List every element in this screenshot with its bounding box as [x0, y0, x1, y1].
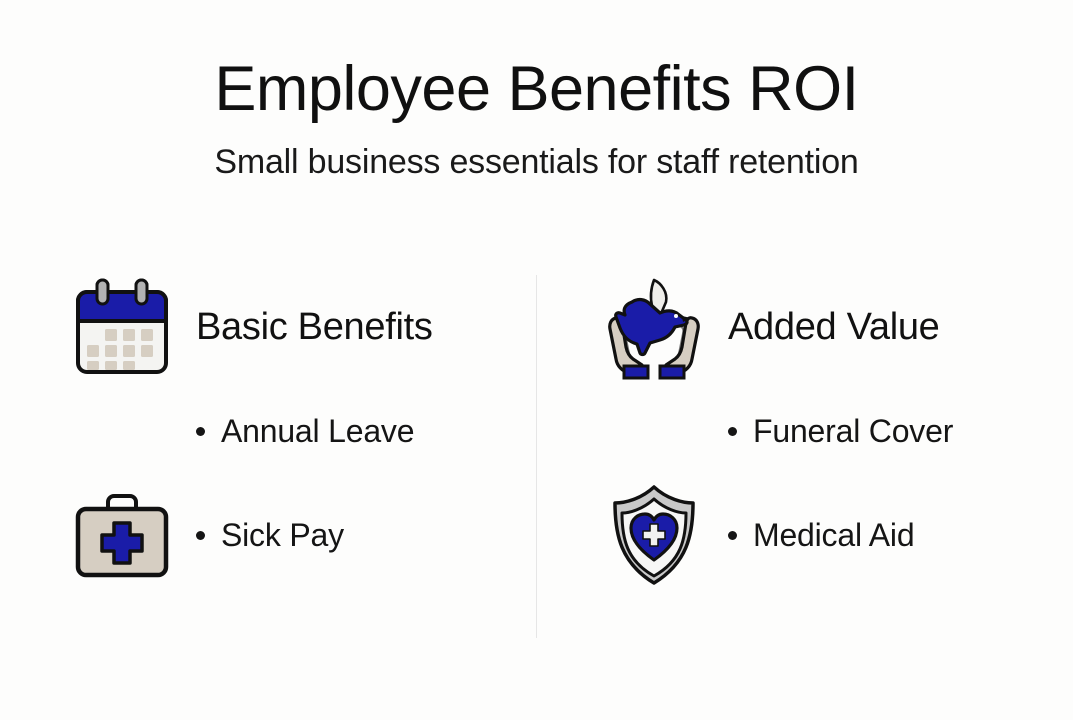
bullet-dot-icon	[196, 531, 205, 540]
dove-in-hands-icon	[594, 272, 714, 382]
page-subtitle: Small business essentials for staff rete…	[0, 144, 1073, 181]
section-title-added-value: Added Value	[728, 306, 940, 349]
section-heading-row-basic: Basic Benefits	[62, 262, 536, 392]
list-item-funeral-cover: Funeral Cover	[594, 392, 1072, 470]
section-title-basic-benefits: Basic Benefits	[196, 306, 433, 349]
column-added-value: Added Value Funeral Cover	[536, 262, 1072, 600]
bullet-dot-icon	[196, 427, 205, 436]
columns-container: Basic Benefits Annual Leave	[0, 262, 1073, 600]
list-item-medical-aid: Medical Aid	[594, 470, 1072, 600]
first-aid-kit-icon	[62, 480, 182, 590]
shield-heart-icon	[594, 480, 714, 590]
list-item-label: Funeral Cover	[753, 413, 953, 450]
list-item-label: Medical Aid	[753, 517, 914, 554]
header: Employee Benefits ROI Small business ess…	[0, 0, 1073, 182]
column-basic-benefits: Basic Benefits Annual Leave	[0, 262, 536, 600]
list-item-label: Annual Leave	[221, 413, 414, 450]
bullet-dot-icon	[728, 427, 737, 436]
infographic-canvas: Employee Benefits ROI Small business ess…	[0, 0, 1073, 720]
bullet-text-wrapper: Sick Pay	[196, 517, 344, 554]
bullet-text-wrapper: Annual Leave	[196, 413, 414, 450]
bullet-text-wrapper: Funeral Cover	[728, 413, 953, 450]
calendar-icon	[62, 272, 182, 382]
section-heading-row-added-value: Added Value	[594, 262, 1072, 392]
list-item-sick-pay: Sick Pay	[62, 470, 536, 600]
bullet-dot-icon	[728, 531, 737, 540]
list-item-annual-leave: Annual Leave	[62, 392, 536, 470]
page-title: Employee Benefits ROI	[0, 56, 1073, 122]
bullet-text-wrapper: Medical Aid	[728, 517, 914, 554]
list-item-label: Sick Pay	[221, 517, 344, 554]
